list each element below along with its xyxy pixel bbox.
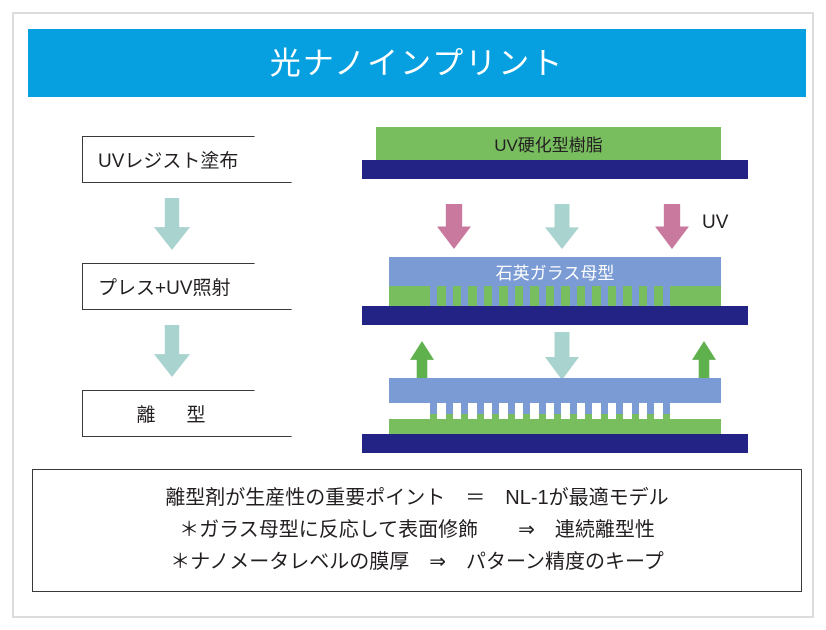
flow-step-label: UVレジスト塗布	[82, 136, 292, 183]
slide-page: 光ナノインプリント UVレジスト塗布 プレス+UV照射 離 型	[0, 0, 826, 630]
step1-resin-label: UV硬化型樹脂	[376, 127, 721, 160]
note-line-1: 離型剤が生産性の重要ポイント ＝ NL-1が最適モデル	[165, 485, 668, 512]
step1-substrate-layer	[362, 160, 748, 179]
step2-mold-teeth	[430, 286, 670, 306]
note-line-2: ＊ガラス母型に反応して表面修飾 ⇒ 連続離型性	[179, 517, 655, 544]
step2-mold-label: 石英ガラス母型	[389, 257, 721, 286]
flow-step-coating[interactable]: UVレジスト塗布	[82, 136, 292, 183]
flow-arrow-down-icon	[154, 325, 190, 377]
step2-resin-layer	[389, 286, 721, 306]
uv-arrow-right-icon	[655, 204, 689, 249]
step3-mold-layer	[389, 378, 721, 403]
title-banner: 光ナノインプリント	[28, 29, 806, 97]
press-arrow-center-icon	[545, 204, 579, 249]
flow-arrow-down-icon	[154, 198, 190, 250]
uv-label: UV	[702, 212, 728, 234]
step3-substrate-layer	[362, 434, 748, 453]
step2-mold-layer: 石英ガラス母型	[389, 257, 721, 286]
process-flowchart: UVレジスト塗布 プレス+UV照射 離 型	[76, 122, 311, 462]
note-line-3: ＊ナノメータレベルの膜厚 ⇒ パターン精度のキープ	[170, 549, 664, 576]
step3-resin-layer	[389, 419, 721, 434]
page-title: 光ナノインプリント	[270, 48, 565, 79]
release-arrow-center-icon	[545, 332, 579, 380]
summary-note-box: 離型剤が生産性の重要ポイント ＝ NL-1が最適モデル ＊ガラス母型に反応して表…	[32, 469, 802, 592]
slide-frame: 光ナノインプリント UVレジスト塗布 プレス+UV照射 離 型	[12, 12, 814, 618]
uv-arrow-left-icon	[437, 204, 471, 249]
flow-step-release[interactable]: 離 型	[82, 390, 292, 437]
step1-resin-layer: UV硬化型樹脂	[376, 127, 721, 160]
flow-step-press-uv[interactable]: プレス+UV照射	[82, 263, 292, 310]
flow-step-label: 離 型	[82, 390, 292, 437]
step2-substrate-layer	[362, 306, 748, 325]
flow-step-label: プレス+UV照射	[82, 263, 292, 310]
